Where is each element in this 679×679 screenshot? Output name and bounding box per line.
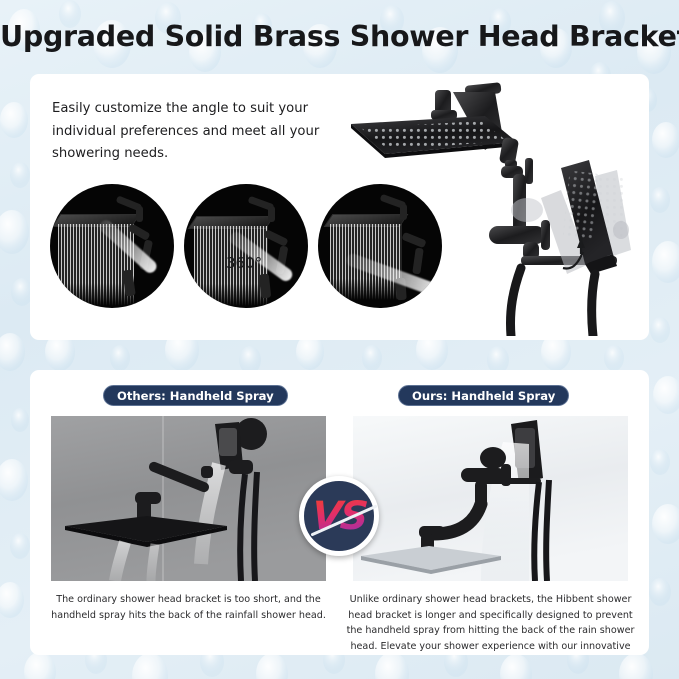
photo-ours bbox=[353, 416, 628, 581]
vs-badge: VS bbox=[299, 476, 379, 556]
hero-product-illustration bbox=[345, 78, 645, 336]
caption-others: The ordinary shower head bracket is too … bbox=[46, 592, 331, 623]
badge-ours: Ours: Handheld Spray bbox=[398, 385, 569, 406]
photo-others-graphic bbox=[51, 416, 326, 581]
spray-angle-2 bbox=[184, 184, 308, 308]
badge-others: Others: Handheld Spray bbox=[103, 385, 288, 406]
features-card: Easily customize the angle to suit your … bbox=[30, 74, 649, 340]
photo-others bbox=[51, 416, 326, 581]
spray-angle-1 bbox=[50, 184, 174, 308]
rotation-angle-label: 360° bbox=[226, 254, 262, 272]
photo-ours-graphic bbox=[353, 416, 628, 581]
page-title: Upgraded Solid Brass Shower Head Bracket bbox=[0, 20, 679, 53]
feature-intro-text: Easily customize the angle to suit your … bbox=[52, 98, 342, 166]
caption-ours: Unlike ordinary shower head brackets, th… bbox=[343, 592, 638, 655]
